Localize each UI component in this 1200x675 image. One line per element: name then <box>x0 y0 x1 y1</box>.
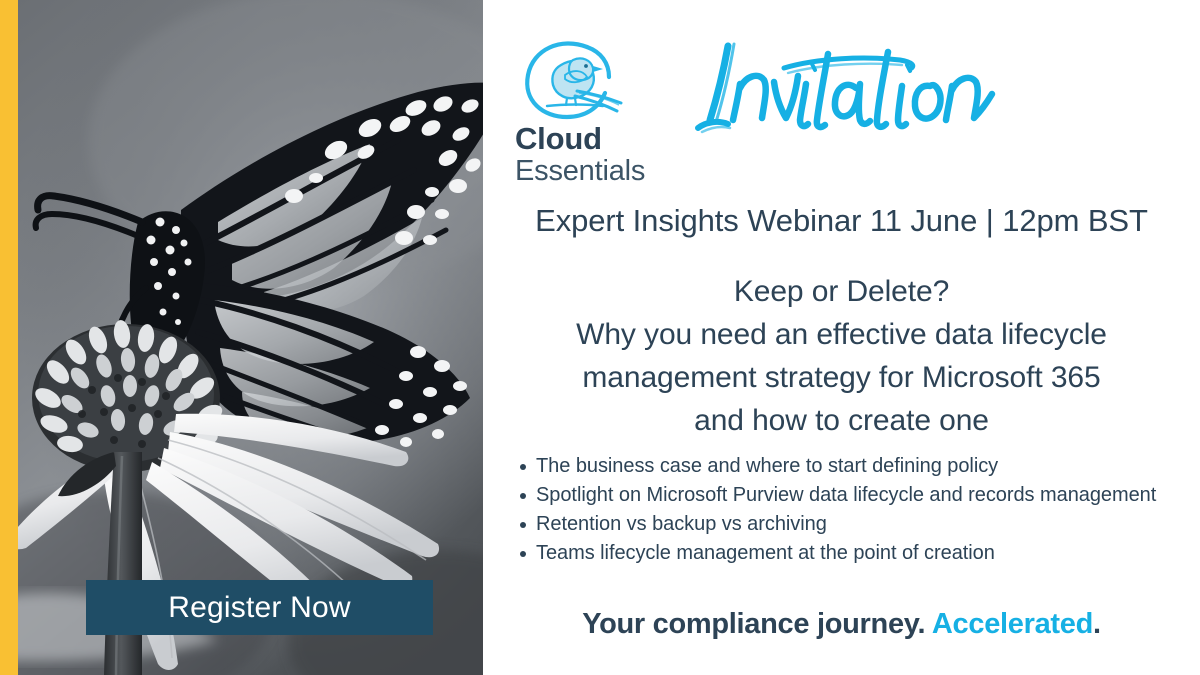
webinar-date-line: Expert Insights Webinar 11 June | 12pm B… <box>483 203 1200 239</box>
cloud-essentials-bird-in-c-logo-icon <box>517 35 635 121</box>
invitation-graphic: Register Now <box>0 0 1200 675</box>
headline-line-1: Keep or Delete? <box>501 270 1182 313</box>
agenda-bullet-list: The business case and where to start def… <box>503 452 1183 568</box>
tagline-part-period: . <box>1093 608 1101 640</box>
brand-tagline: Your compliance journey. Accelerated. <box>483 608 1200 641</box>
list-item: Spotlight on Microsoft Purview data life… <box>503 481 1183 510</box>
register-now-button[interactable]: Register Now <box>86 580 433 635</box>
left-yellow-accent-stripe <box>0 0 18 675</box>
invitation-script-lettering <box>688 28 1008 153</box>
headline-block: Keep or Delete? Why you need an effectiv… <box>501 270 1182 442</box>
invitation-script-word <box>688 28 1008 153</box>
invitation-content-panel: Cloud Essentials <box>483 0 1200 675</box>
tagline-part-primary: Your compliance journey. <box>582 608 925 640</box>
list-item: Teams lifecycle management at the point … <box>503 539 1183 568</box>
brand-name-line-1: Cloud <box>515 123 665 156</box>
butterfly-photo-panel: Register Now <box>18 0 483 675</box>
list-item: The business case and where to start def… <box>503 452 1183 481</box>
list-item: Retention vs backup vs archiving <box>503 510 1183 539</box>
brand-wordmark: Cloud Essentials <box>515 123 665 186</box>
register-now-label: Register Now <box>168 593 350 623</box>
butterfly-photo-image <box>18 0 483 675</box>
headline-line-3: management strategy for Microsoft 365 <box>501 356 1182 399</box>
brand-name-line-2: Essentials <box>515 156 665 186</box>
headline-line-2: Why you need an effective data lifecycle <box>501 313 1182 356</box>
headline-line-4: and how to create one <box>501 399 1182 442</box>
brand-logo-block: Cloud Essentials <box>515 35 665 186</box>
tagline-part-accent: Accelerated <box>932 608 1093 640</box>
